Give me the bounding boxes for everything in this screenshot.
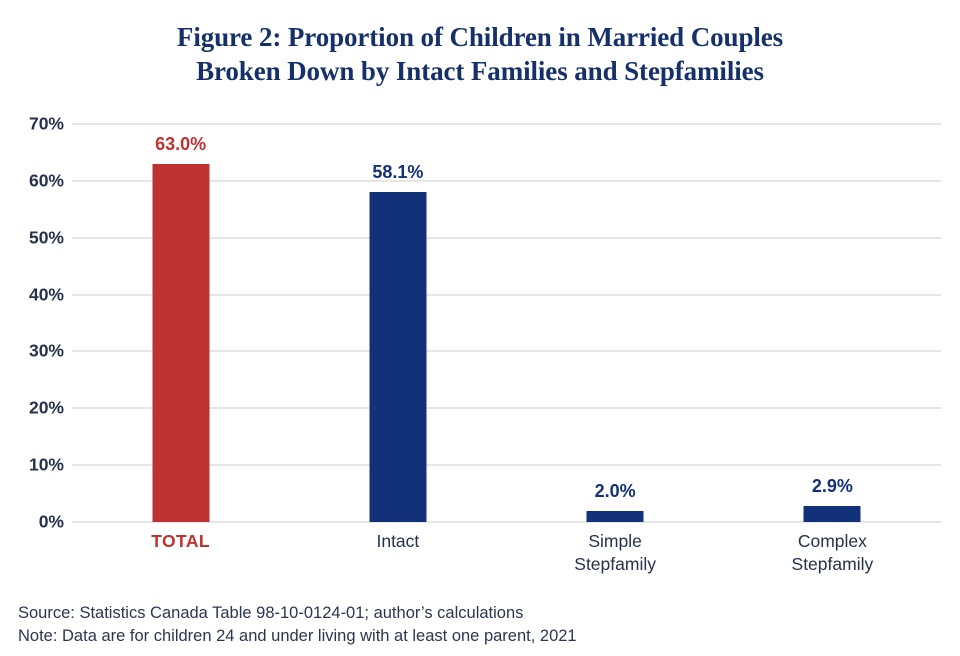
bar-group: 58.1% <box>289 124 506 522</box>
x-axis-tick-line: Stepfamily <box>724 553 941 576</box>
bar-value-label: 2.9% <box>812 476 853 497</box>
bar-total[interactable] <box>152 164 209 522</box>
bar-group: 2.0% <box>507 124 724 522</box>
chart-title-line-2: Broken Down by Intact Families and Stepf… <box>0 54 960 88</box>
x-axis-tick-line: Simple <box>507 530 724 553</box>
source-note: Source: Statistics Canada Table 98-10-01… <box>18 602 577 625</box>
y-axis-tick-label: 30% <box>4 341 64 362</box>
bar-simple-stepfamily[interactable] <box>587 511 644 522</box>
chart-title: Figure 2: Proportion of Children in Marr… <box>0 20 960 88</box>
bar-intact[interactable] <box>369 192 426 522</box>
y-axis-tick-label: 20% <box>4 398 64 419</box>
x-axis-tick-line: TOTAL <box>72 530 289 553</box>
bar-group: 2.9% <box>724 124 941 522</box>
y-axis-tick-label: 60% <box>4 170 64 191</box>
y-axis-tick-label: 40% <box>4 284 64 305</box>
plot-area: 63.0%58.1%2.0%2.9% <box>72 124 941 522</box>
y-axis-tick-label: 0% <box>4 512 64 533</box>
x-axis-tick-line: Complex <box>724 530 941 553</box>
bar-value-label: 2.0% <box>595 481 636 502</box>
chart-title-line-1: Figure 2: Proportion of Children in Marr… <box>0 20 960 54</box>
y-axis-tick-label: 50% <box>4 227 64 248</box>
data-note: Note: Data are for children 24 and under… <box>18 625 577 648</box>
y-axis-tick-label: 70% <box>4 114 64 135</box>
x-axis-tick-line: Intact <box>289 530 506 553</box>
bar-value-label: 63.0% <box>155 134 206 155</box>
bar-group: 63.0% <box>72 124 289 522</box>
x-axis-tick-label: ComplexStepfamily <box>724 530 941 576</box>
x-axis-tick-label: TOTAL <box>72 530 289 553</box>
chart-footnotes: Source: Statistics Canada Table 98-10-01… <box>18 602 577 648</box>
y-axis-tick-label: 10% <box>4 455 64 476</box>
x-axis-tick-line: Stepfamily <box>507 553 724 576</box>
bar-complex-stepfamily[interactable] <box>804 506 861 522</box>
x-axis-tick-label: SimpleStepfamily <box>507 530 724 576</box>
bar-value-label: 58.1% <box>372 162 423 183</box>
x-axis: TOTALIntactSimpleStepfamilyComplexStepfa… <box>72 530 941 590</box>
x-axis-tick-label: Intact <box>289 530 506 553</box>
y-axis: 70%60%50%40%30%20%10%0% <box>0 124 64 522</box>
